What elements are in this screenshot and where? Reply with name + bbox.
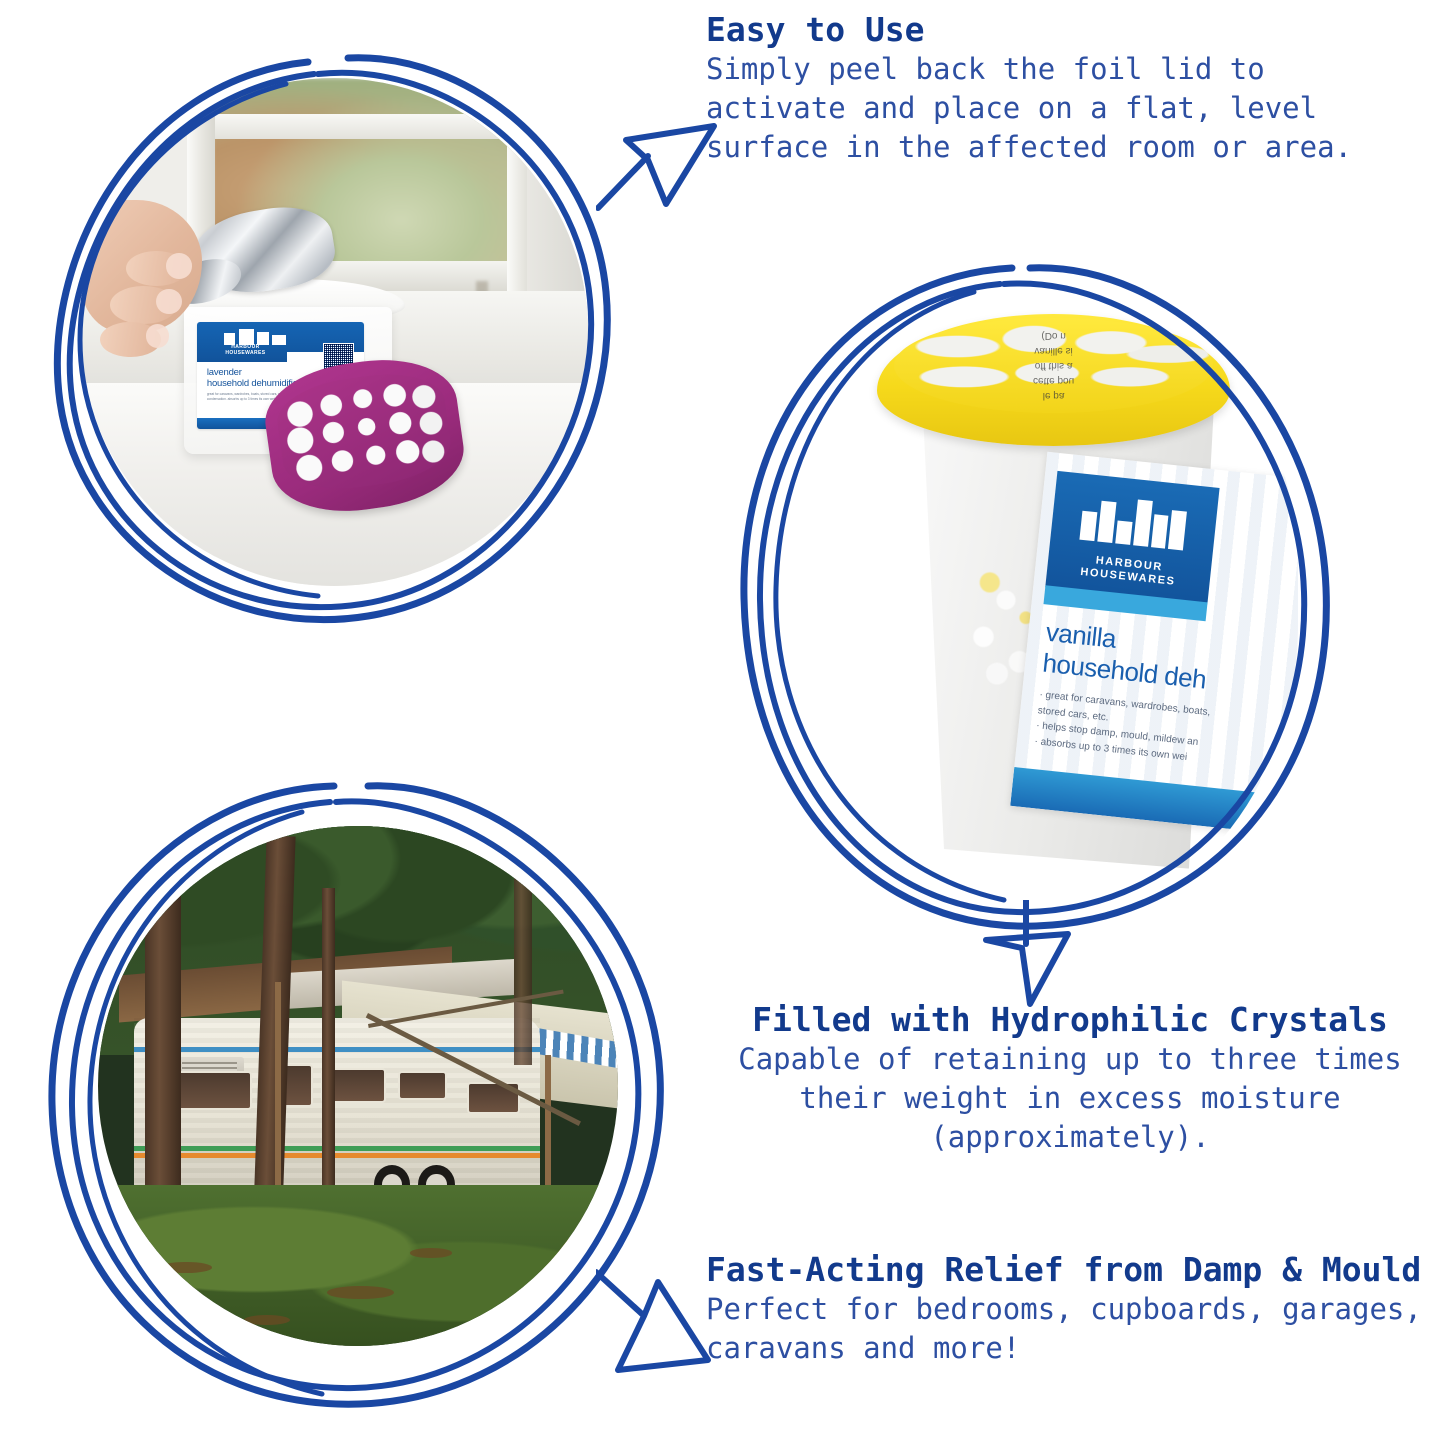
brand-line-2: HOUSEWARES bbox=[225, 350, 265, 356]
foil-text-4: (Do n bbox=[1041, 330, 1065, 341]
feature-block-easy-to-use: Easy to Use Simply peel back the foil li… bbox=[706, 10, 1406, 168]
purple-lattice-lid bbox=[259, 350, 471, 523]
feature-body: Capable of retaining up to three times t… bbox=[700, 1040, 1440, 1158]
infographic-page: HARBOUR HOUSEWARES lavender household de… bbox=[0, 0, 1445, 1445]
feature-body: Simply peel back the foil lid to activat… bbox=[706, 50, 1406, 168]
photo-medallion-peeling-foil-lid: HARBOUR HOUSEWARES lavender household de… bbox=[18, 22, 648, 652]
foil-text-3: vanille si bbox=[1034, 345, 1072, 356]
product-line-1: lavender bbox=[207, 367, 242, 378]
photo-vanilla-dehumidifier-tub: le pa cette pou off this a vanille si (D… bbox=[778, 268, 1298, 928]
feature-block-fast-acting-relief: Fast-Acting Relief from Damp & Mould Per… bbox=[706, 1250, 1422, 1368]
photo-peeling-foil-lid: HARBOUR HOUSEWARES lavender household de… bbox=[80, 78, 588, 586]
caravan-body bbox=[134, 1018, 540, 1195]
yellow-lattice-lid: le pa cette pou off this a vanille si (D… bbox=[877, 314, 1231, 446]
product-label-vanilla: HARBOUR HOUSEWARES vanilla household deh… bbox=[1010, 452, 1298, 837]
feature-title: Filled with Hydrophilic Crystals bbox=[700, 1000, 1440, 1040]
photo-medallion-vanilla-tub: le pa cette pou off this a vanille si (D… bbox=[718, 248, 1358, 948]
photo-caravan-campsite bbox=[98, 826, 618, 1346]
feature-title: Fast-Acting Relief from Damp & Mould bbox=[706, 1250, 1422, 1290]
foil-text-0: le pa bbox=[1043, 390, 1065, 401]
foil-text-2: off this a bbox=[1035, 360, 1073, 371]
photo-medallion-caravan-campsite bbox=[30, 768, 690, 1428]
foil-text-1: cette pou bbox=[1033, 375, 1074, 386]
feature-title: Easy to Use bbox=[706, 10, 1406, 50]
feature-body: Perfect for bedrooms, cupboards, garages… bbox=[706, 1290, 1422, 1369]
feature-block-hydrophilic-crystals: Filled with Hydrophilic Crystals Capable… bbox=[700, 1000, 1440, 1158]
